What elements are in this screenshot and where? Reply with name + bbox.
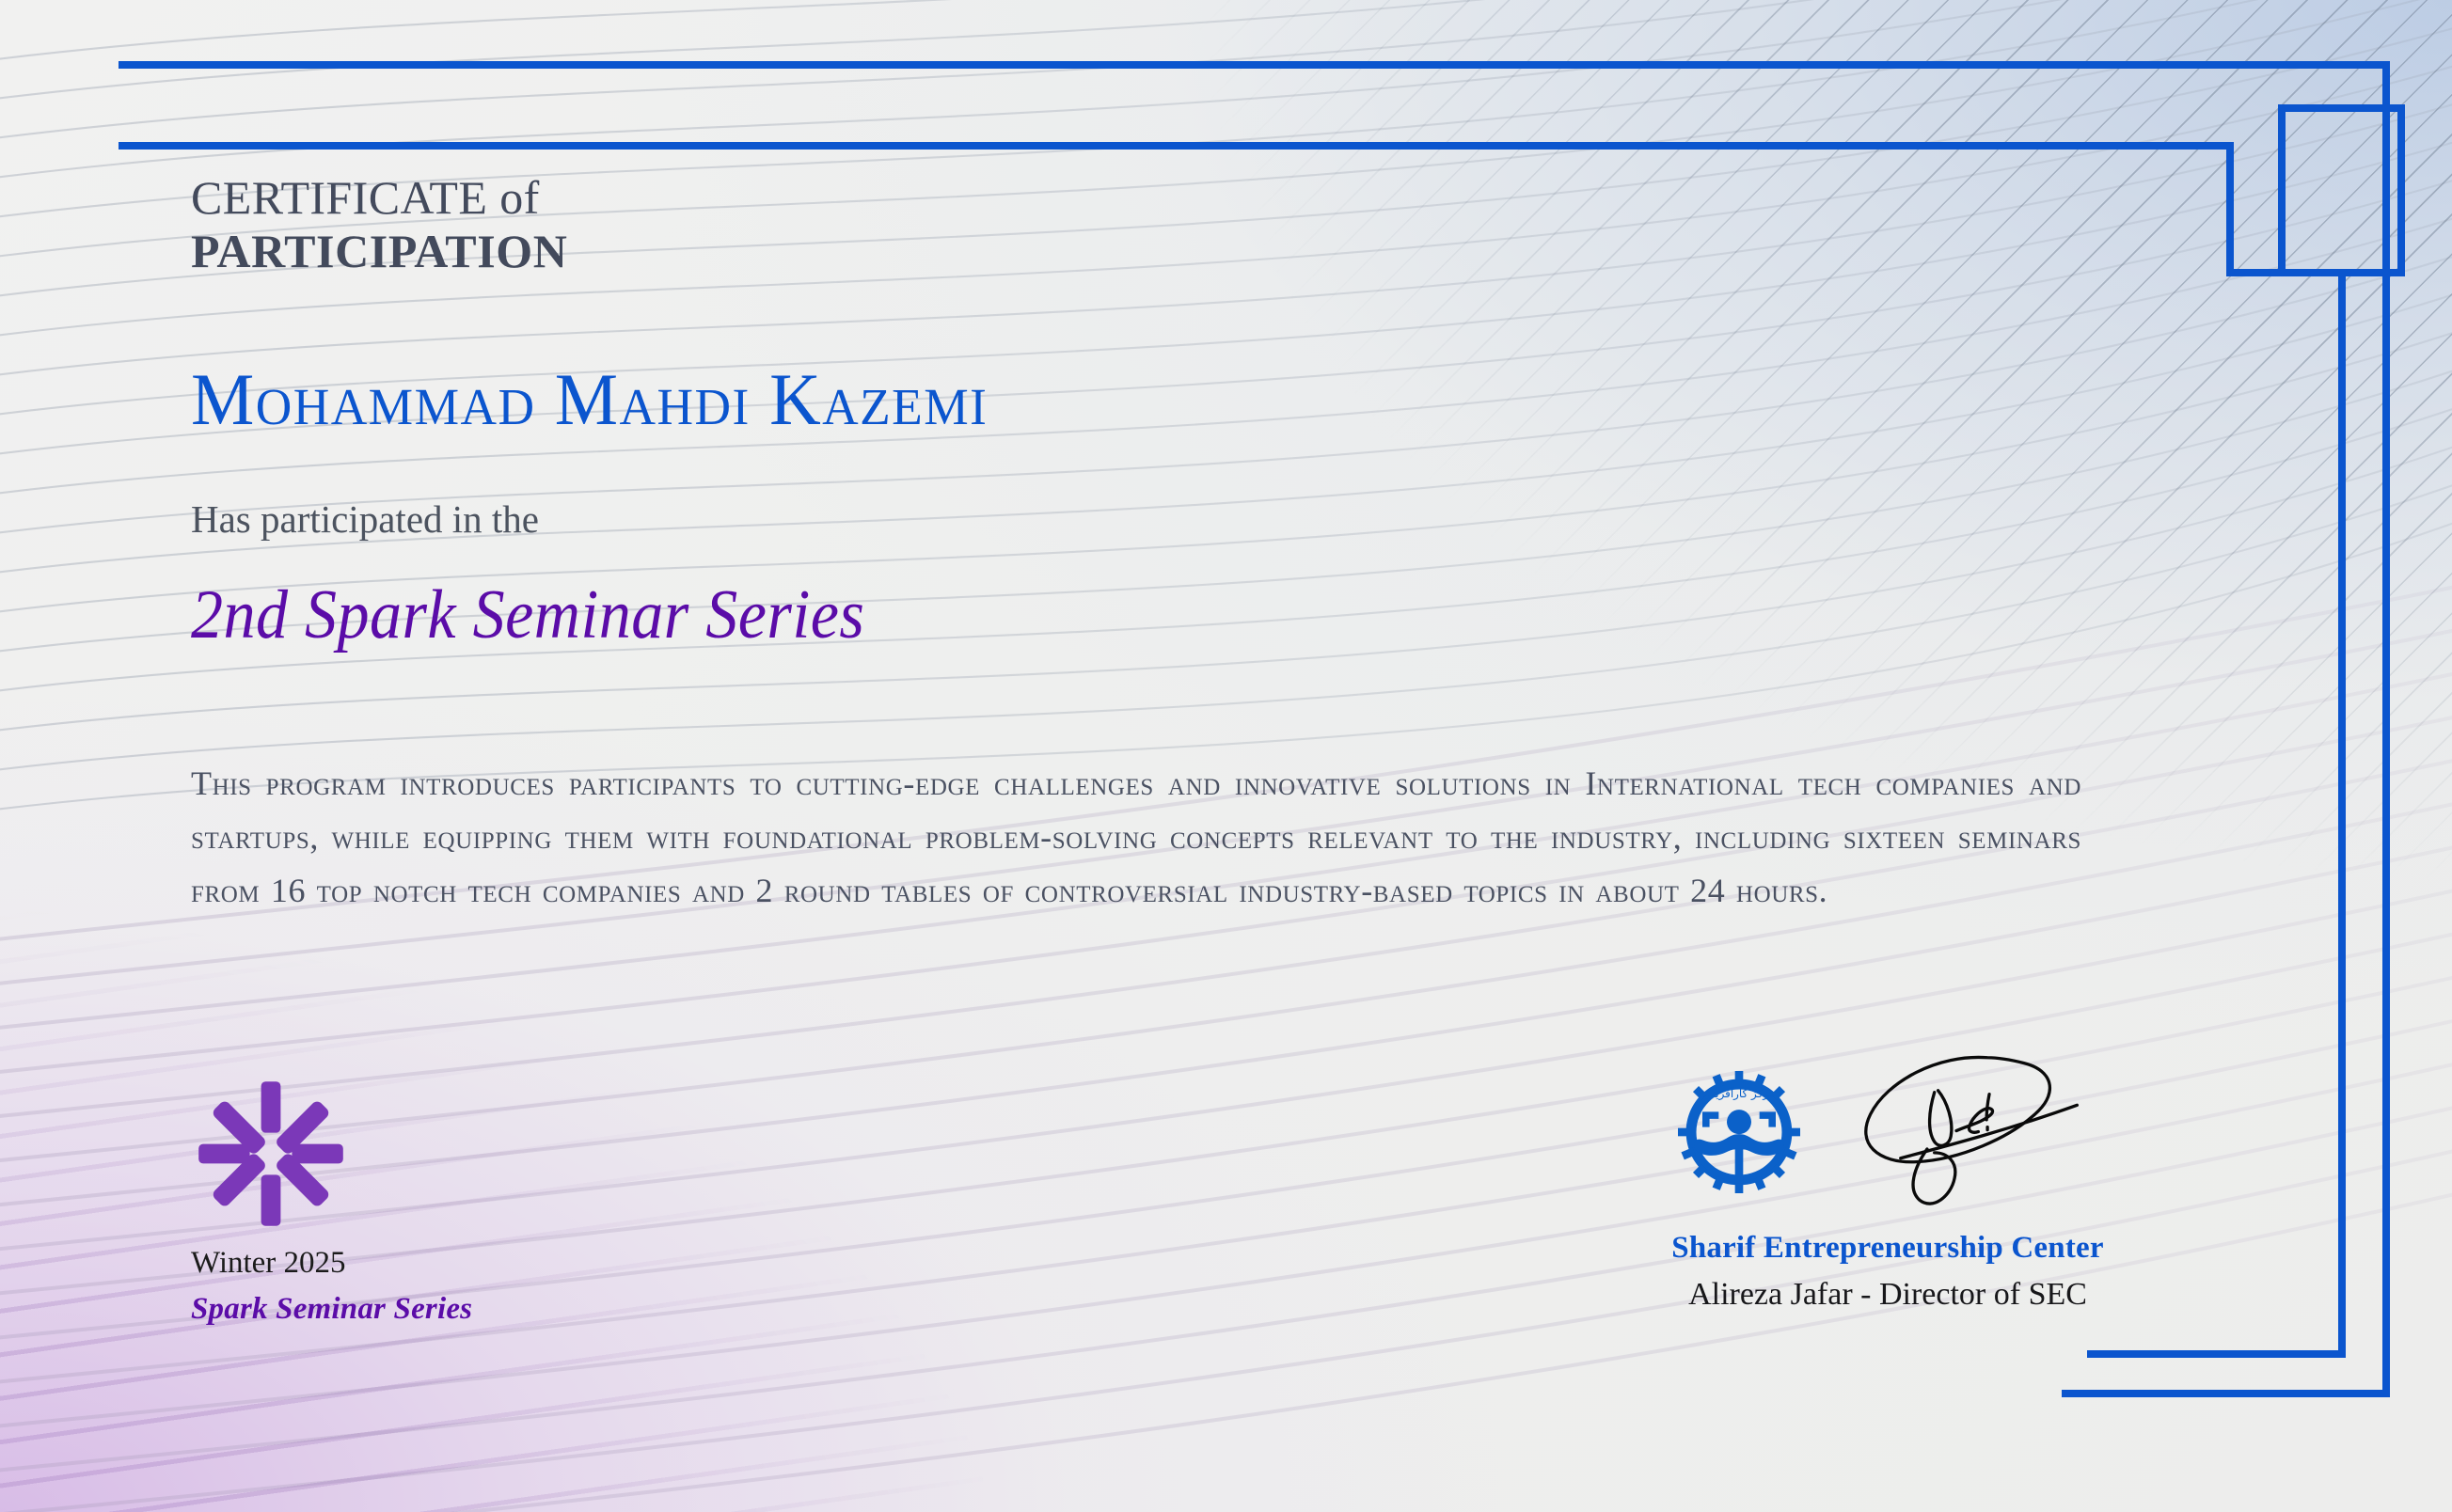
signature-block: مرکز کارآفرینی <box>1530 1058 2245 1313</box>
issue-date: Winter 2025 <box>191 1246 472 1281</box>
recipient-name: Mohammad Mahdi Kazemi <box>191 357 988 442</box>
spark-logo <box>191 1079 351 1229</box>
handwritten-signature <box>1849 1050 2098 1215</box>
certificate-content: CERTIFICATE of PARTICIPATION Mohammad Ma… <box>0 0 2452 1512</box>
series-name: Spark Seminar Series <box>191 1292 472 1327</box>
heading-line-1: CERTIFICATE of <box>191 171 568 225</box>
certificate-body-text: This program introduces participants to … <box>191 757 2081 918</box>
organization-name: Sharif Entrepreneurship Center <box>1530 1231 2245 1266</box>
heading-line-2: PARTICIPATION <box>191 225 568 278</box>
logo-persian-text: مرکز کارآفرینی <box>1702 1086 1774 1101</box>
certificate-heading: CERTIFICATE of PARTICIPATION <box>191 171 568 278</box>
sharif-entrepreneurship-center-logo: مرکز کارآفرینی <box>1678 1071 1800 1193</box>
program-title: 2nd Spark Seminar Series <box>191 575 864 655</box>
participation-label: Has participated in the <box>191 496 539 542</box>
signature-row: مرکز کارآفرینی <box>1530 1058 2245 1229</box>
certificate: CERTIFICATE of PARTICIPATION Mohammad Ma… <box>0 0 2452 1512</box>
issuer-block: Winter 2025 Spark Seminar Series <box>191 1079 472 1327</box>
signatory-name-role: Alireza Jafar - Director of SEC <box>1530 1277 2245 1313</box>
